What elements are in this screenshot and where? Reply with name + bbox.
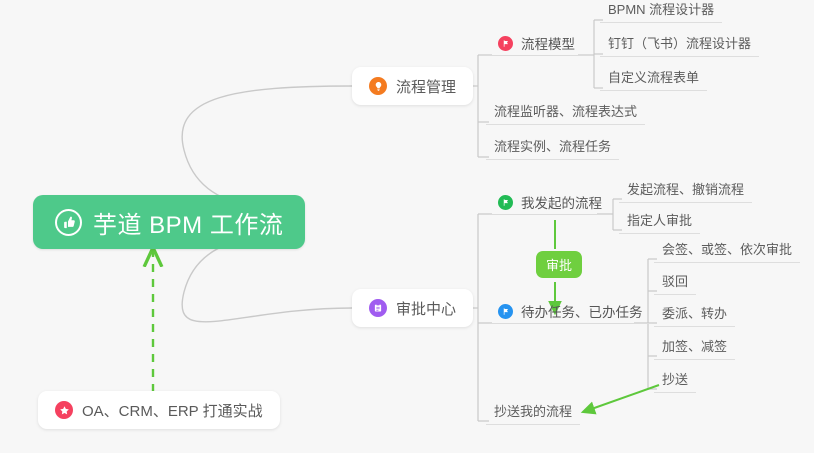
leaf-label: 发起流程、撤销流程 xyxy=(627,179,744,198)
arrow-cc-to-cc-process xyxy=(583,385,659,412)
leaf-label: 委派、转办 xyxy=(662,303,727,322)
leaf-custom-form[interactable]: 自定义流程表单 xyxy=(600,70,707,91)
leaf-label: 钉钉（飞书）流程设计器 xyxy=(608,33,751,52)
branch-label-process-management: 流程管理 xyxy=(396,76,456,97)
leaf-label: 会签、或签、依次审批 xyxy=(662,239,792,258)
leaf-process-listener[interactable]: 流程监听器、流程表达式 xyxy=(486,104,645,125)
node-label-my-started-process: 我发起的流程 xyxy=(521,197,602,211)
leaf-dingtalk-designer[interactable]: 钉钉（飞书）流程设计器 xyxy=(600,36,759,57)
mindmap-canvas: 芋道 BPM 工作流 流程管理 流程模型 BPMN 流程设计器 钉钉（飞书）流程… xyxy=(0,0,814,453)
leaf-label: 抄送 xyxy=(662,369,688,388)
leaf-add-remove-sign[interactable]: 加签、减签 xyxy=(654,339,735,360)
leaf-label: 驳回 xyxy=(662,271,688,290)
node-my-started-process[interactable]: 我发起的流程 xyxy=(489,193,611,215)
leaf-countersign[interactable]: 会签、或签、依次审批 xyxy=(654,242,800,263)
lightbulb-icon xyxy=(369,77,387,95)
leaf-cc[interactable]: 抄送 xyxy=(654,372,696,393)
root-node[interactable]: 芋道 BPM 工作流 xyxy=(33,195,305,249)
leaf-label: 加签、减签 xyxy=(662,336,727,355)
node-todo-done-task[interactable]: 待办任务、已办任务 xyxy=(489,302,652,324)
leaf-label: 抄送我的流程 xyxy=(494,401,572,420)
leaf-assignee-approval[interactable]: 指定人审批 xyxy=(619,213,700,234)
leaf-label: 流程实例、流程任务 xyxy=(494,136,611,155)
clipboard-icon xyxy=(369,299,387,317)
leaf-start-cancel-process[interactable]: 发起流程、撤销流程 xyxy=(619,182,752,203)
leaf-delegate-transfer[interactable]: 委派、转办 xyxy=(654,306,735,327)
branch-node-approval-center[interactable]: 审批中心 xyxy=(352,289,473,327)
root-label: 芋道 BPM 工作流 xyxy=(93,205,283,240)
leaf-label: BPMN 流程设计器 xyxy=(608,0,714,18)
node-label-todo-done-task: 待办任务、已办任务 xyxy=(521,306,643,320)
footer-node-label: OA、CRM、ERP 打通实战 xyxy=(82,400,263,421)
annotation-tag-approval: 审批 xyxy=(536,251,582,278)
leaf-reject[interactable]: 驳回 xyxy=(654,274,696,295)
leaf-cc-my-process[interactable]: 抄送我的流程 xyxy=(486,404,580,425)
leaf-process-instance[interactable]: 流程实例、流程任务 xyxy=(486,139,619,160)
leaf-bpmn-designer[interactable]: BPMN 流程设计器 xyxy=(600,2,722,23)
node-process-model[interactable]: 流程模型 xyxy=(489,34,584,56)
branch-node-process-management[interactable]: 流程管理 xyxy=(352,67,473,105)
annotation-tag-label: 审批 xyxy=(546,255,572,274)
flag-icon xyxy=(498,304,513,319)
leaf-label: 指定人审批 xyxy=(627,210,692,229)
footer-node-integration[interactable]: OA、CRM、ERP 打通实战 xyxy=(38,391,280,429)
node-label-process-model: 流程模型 xyxy=(521,38,575,52)
flag-icon xyxy=(498,36,513,51)
wire-root-to-process-management xyxy=(182,86,352,208)
leaf-label: 自定义流程表单 xyxy=(608,67,699,86)
thumbs-up-icon xyxy=(55,209,82,236)
branch-label-approval-center: 审批中心 xyxy=(396,298,456,319)
star-icon xyxy=(55,401,73,419)
leaf-label: 流程监听器、流程表达式 xyxy=(494,101,637,120)
flag-icon xyxy=(498,195,513,210)
